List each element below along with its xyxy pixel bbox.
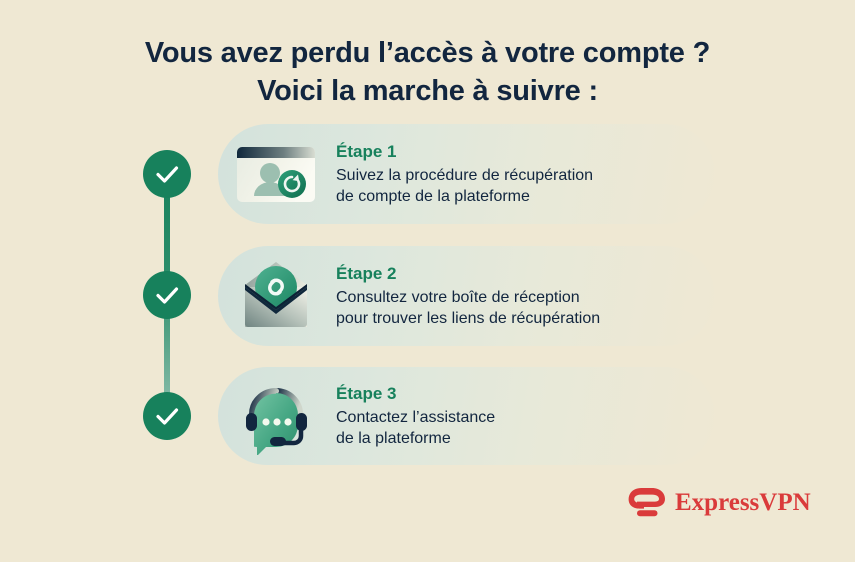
step-1-description: Suivez la procédure de récupération de c… — [336, 165, 593, 207]
step-1-illustration — [218, 124, 334, 224]
title-line-1: Vous avez perdu l’accès à votre compte ? — [0, 34, 855, 72]
step-2-label: Étape 2 — [336, 263, 600, 284]
expressvpn-logo: ExpressVPN — [628, 487, 811, 518]
step-3-text: Étape 3 Contactez l’assistance de la pla… — [334, 383, 495, 449]
account-recovery-window-icon — [230, 138, 322, 210]
timeline-check-circle-1 — [143, 150, 191, 198]
step-1-text: Étape 1 Suivez la procédure de récupérat… — [334, 141, 593, 207]
step-card-3: Étape 3 Contactez l’assistance de la pla… — [218, 367, 715, 465]
step-3-description: Contactez l’assistance de la plateforme — [336, 407, 495, 449]
step-2-illustration — [218, 246, 334, 346]
check-icon — [143, 150, 191, 198]
headset-chat-support-icon — [230, 377, 322, 455]
infographic-canvas: Vous avez perdu l’accès à votre compte ?… — [0, 0, 855, 562]
step-card-1: Étape 1 Suivez la procédure de récupérat… — [218, 124, 715, 224]
check-icon — [143, 392, 191, 440]
step-2-description: Consultez votre boîte de réception pour … — [336, 287, 600, 329]
check-icon — [143, 271, 191, 319]
title-line-2: Voici la marche à suivre : — [0, 72, 855, 110]
step-3-label: Étape 3 — [336, 383, 495, 404]
step-2-text: Étape 2 Consultez votre boîte de récepti… — [334, 263, 600, 329]
expressvpn-wordmark: ExpressVPN — [675, 489, 811, 517]
step-1-label: Étape 1 — [336, 141, 593, 162]
page-title: Vous avez perdu l’accès à votre compte ?… — [0, 34, 855, 110]
timeline-check-circle-2 — [143, 271, 191, 319]
envelope-link-icon — [234, 257, 318, 335]
step-card-2: Étape 2 Consultez votre boîte de récepti… — [218, 246, 715, 346]
expressvpn-e-mark-icon — [628, 487, 666, 518]
step-3-illustration — [218, 367, 334, 465]
timeline-check-circle-3 — [143, 392, 191, 440]
